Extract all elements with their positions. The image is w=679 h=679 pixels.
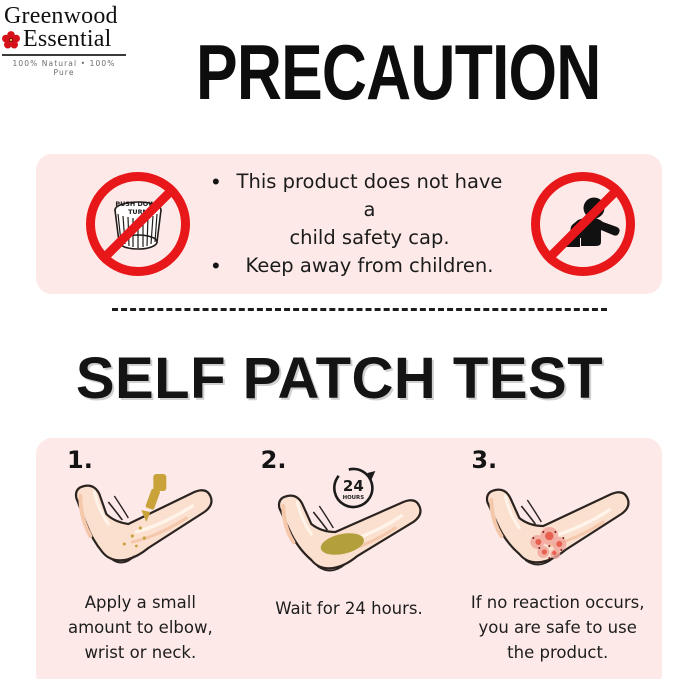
step-caption: If no reaction occurs, you are safe to u… xyxy=(457,590,658,665)
step-caption-line3: wrist or neck. xyxy=(40,640,241,665)
step-caption-line2: amount to elbow, xyxy=(40,615,241,640)
step-caption: Apply a small amount to elbow, wrist or … xyxy=(40,590,241,665)
list-item: • Keep away from children. xyxy=(212,252,527,280)
red-flower-icon xyxy=(2,31,20,49)
precaution-content-row: PUSH DOWN TURN • This product does not h… xyxy=(36,154,662,294)
brand-logo: Greenwood Essential 100% Natural • xyxy=(2,4,128,77)
precaution-bullet-list: • This product does not have a child saf… xyxy=(190,168,531,280)
elbow-with-rash-icon xyxy=(453,462,662,582)
list-item: • This product does not have a xyxy=(212,168,527,224)
svg-text:HOURS: HOURS xyxy=(342,495,364,501)
step-caption-line2: you are safe to use xyxy=(457,615,658,640)
no-children-icon xyxy=(531,172,635,276)
step-caption-line1: Apply a small xyxy=(40,590,241,615)
bullet-marker: • xyxy=(212,252,226,280)
brand-name-line2: Essential xyxy=(23,27,111,52)
list-item-continuation: child safety cap. xyxy=(212,224,527,252)
step-caption: Wait for 24 hours. xyxy=(249,596,450,621)
logo-divider xyxy=(2,54,126,56)
patch-steps-row: 1. xyxy=(36,438,662,679)
patch-step-2: 2. xyxy=(245,438,454,679)
bullet-text: This product does not have a xyxy=(230,168,509,224)
step-caption-line1: If no reaction occurs, xyxy=(457,590,658,615)
patch-step-1: 1. xyxy=(36,438,245,679)
elbow-with-24-hour-clock-icon: 24 HOURS xyxy=(245,462,454,582)
bullet-text: child safety cap. xyxy=(230,224,509,252)
elbow-with-dropper-icon xyxy=(36,462,245,582)
precaution-heading: PRECAUTION xyxy=(196,33,524,111)
bullet-marker: • xyxy=(212,168,226,196)
section-divider xyxy=(112,308,607,311)
self-patch-test-heading: SELF PATCH TEST xyxy=(0,347,679,411)
bullet-text: Keep away from children. xyxy=(230,252,509,280)
brand-tagline: 100% Natural • 100% Pure xyxy=(2,59,126,77)
no-child-safety-cap-icon: PUSH DOWN TURN xyxy=(86,172,190,276)
precaution-infographic-page: Greenwood Essential 100% Natural • xyxy=(0,0,679,679)
step-caption-line1: Wait for 24 hours. xyxy=(249,596,450,621)
patch-step-3: 3. xyxy=(453,438,662,679)
step-caption-line3: the product. xyxy=(457,640,658,665)
svg-text:24: 24 xyxy=(343,477,364,495)
